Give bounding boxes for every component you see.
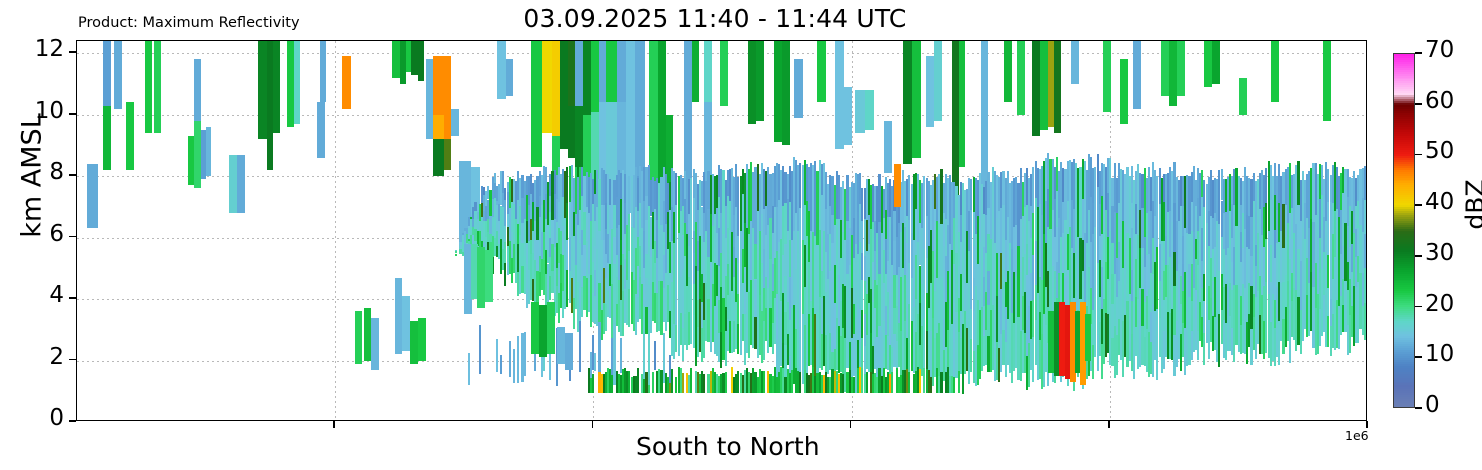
reflectivity-column — [477, 41, 485, 420]
colorbar-tick-label: 50 — [1425, 138, 1454, 164]
reflectivity-cell — [1085, 314, 1091, 360]
colorbar-tick-label: 60 — [1425, 88, 1454, 114]
reflectivity-cell — [426, 59, 434, 139]
reflectivity-column — [87, 41, 97, 420]
colorbar-tick-mark — [1415, 356, 1422, 358]
colorbar-tick-mark — [1415, 154, 1422, 156]
y-tick-mark — [69, 113, 76, 115]
x-axis-offset-text: 1e6 — [1345, 428, 1369, 443]
reflectivity-cell — [237, 155, 245, 213]
reflectivity-cell — [894, 164, 900, 207]
reflectivity-column — [320, 41, 326, 420]
reflectivity-column — [126, 41, 134, 420]
reflectivity-heatmap — [77, 41, 1366, 420]
y-tick-label: 4 — [14, 282, 64, 308]
reflectivity-cell — [395, 278, 403, 355]
reflectivity-cell — [547, 302, 555, 354]
reflectivity-column — [145, 41, 151, 420]
reflectivity-cell — [364, 308, 372, 360]
colorbar-tick-mark — [1415, 306, 1422, 308]
reflectivity-column — [294, 41, 300, 420]
reflectivity-column — [557, 41, 565, 420]
y-tick-mark — [69, 236, 76, 238]
reflectivity-column — [154, 41, 160, 420]
reflectivity-column — [455, 41, 457, 420]
y-tick-mark — [69, 297, 76, 299]
reflectivity-column — [273, 41, 279, 420]
colorbar-tick-mark — [1415, 407, 1422, 409]
reflectivity-column — [433, 41, 443, 420]
reflectivity-cell — [154, 41, 160, 133]
reflectivity-cell — [433, 56, 443, 114]
reflectivity-cell — [531, 302, 539, 354]
y-tick-mark — [69, 174, 76, 176]
colorbar-tick-label: 0 — [1425, 392, 1440, 418]
colorbar-tick-mark — [1415, 52, 1422, 54]
colorbar-gradient — [1393, 53, 1415, 408]
x-axis-label: South to North — [636, 432, 820, 461]
x-tick-mark — [1366, 421, 1368, 428]
reflectivity-cell — [145, 41, 151, 133]
y-tick-label: 6 — [14, 221, 64, 247]
reflectivity-column — [547, 41, 555, 420]
reflectivity-cell — [455, 250, 457, 251]
reflectivity-cell — [433, 115, 443, 140]
reflectivity-cell — [126, 102, 134, 170]
reflectivity-column — [894, 41, 900, 420]
reflectivity-column — [565, 41, 573, 420]
reflectivity-cell — [258, 41, 267, 139]
reflectivity-cell — [229, 155, 237, 213]
reflectivity-cell — [557, 327, 565, 364]
x-tick-mark — [1108, 421, 1110, 428]
reflectivity-cell — [455, 254, 457, 256]
plot-clip — [77, 41, 1366, 420]
colorbar-tick-mark — [1415, 204, 1422, 206]
y-tick-label: 10 — [14, 98, 64, 124]
reflectivity-cell — [114, 41, 122, 109]
reflectivity-cell — [273, 41, 279, 133]
reflectivity-column — [539, 41, 547, 420]
reflectivity-column — [229, 41, 237, 420]
reflectivity-column — [355, 41, 363, 420]
reflectivity-cell — [103, 41, 111, 106]
colorbar-band — [1394, 405, 1414, 408]
reflectivity-cell — [355, 311, 363, 363]
y-tick-label: 8 — [14, 159, 64, 185]
reflectivity-cell — [103, 106, 111, 171]
y-tick-mark — [69, 359, 76, 361]
colorbar-tick-label: 10 — [1425, 341, 1454, 367]
reflectivity-column — [410, 41, 418, 420]
reflectivity-cell — [444, 56, 452, 139]
y-tick-label: 2 — [14, 344, 64, 370]
reflectivity-column — [237, 41, 245, 420]
reflectivity-cell — [320, 41, 326, 102]
reflectivity-cell — [485, 250, 493, 302]
y-tick-mark — [69, 420, 76, 422]
reflectivity-column — [364, 41, 372, 420]
reflectivity-cell — [410, 321, 418, 364]
reflectivity-cell — [418, 318, 426, 361]
reflectivity-column — [206, 41, 211, 420]
reflectivity-column — [485, 41, 493, 420]
reflectivity-column — [371, 41, 379, 420]
x-tick-mark — [592, 421, 594, 428]
colorbar-label: dBZ — [1461, 160, 1482, 250]
reflectivity-cell — [444, 139, 452, 170]
plot-area — [76, 40, 1367, 421]
colorbar-tick-mark — [1415, 103, 1422, 105]
product-label: Product: Maximum Reflectivity — [78, 15, 300, 31]
colorbar-tick-mark — [1415, 255, 1422, 257]
reflectivity-cell — [206, 127, 211, 176]
reflectivity-column — [342, 41, 351, 420]
reflectivity-cell — [1048, 311, 1054, 372]
reflectivity-column — [258, 41, 267, 420]
x-tick-mark — [333, 421, 335, 428]
reflectivity-column — [1085, 41, 1091, 420]
reflectivity-cell — [342, 56, 351, 108]
y-tick-label: 0 — [14, 405, 64, 431]
colorbar-tick-label: 30 — [1425, 240, 1454, 266]
colorbar-tick-label: 20 — [1425, 291, 1454, 317]
reflectivity-cell — [477, 247, 485, 308]
reflectivity-column — [395, 41, 403, 420]
reflectivity-column — [103, 41, 111, 420]
reflectivity-cell — [433, 139, 443, 176]
reflectivity-cell — [371, 318, 379, 370]
reflectivity-column — [426, 41, 434, 420]
reflectivity-cell — [539, 305, 547, 357]
reflectivity-column — [444, 41, 452, 420]
reflectivity-cell — [294, 41, 300, 124]
reflectivity-cell — [455, 250, 457, 253]
reflectivity-column — [531, 41, 539, 420]
reflectivity-cell — [402, 296, 410, 351]
colorbar-tick-label: 40 — [1425, 189, 1454, 215]
y-tick-mark — [69, 51, 76, 53]
reflectivity-column — [1048, 41, 1054, 420]
colorbar-tick-label: 70 — [1425, 37, 1454, 63]
y-tick-label: 12 — [14, 36, 64, 62]
reflectivity-cell — [87, 164, 97, 229]
reflectivity-cell — [565, 333, 573, 370]
reflectivity-column — [418, 41, 426, 420]
reflectivity-column — [114, 41, 122, 420]
x-tick-mark — [850, 421, 852, 428]
reflectivity-column — [402, 41, 410, 420]
